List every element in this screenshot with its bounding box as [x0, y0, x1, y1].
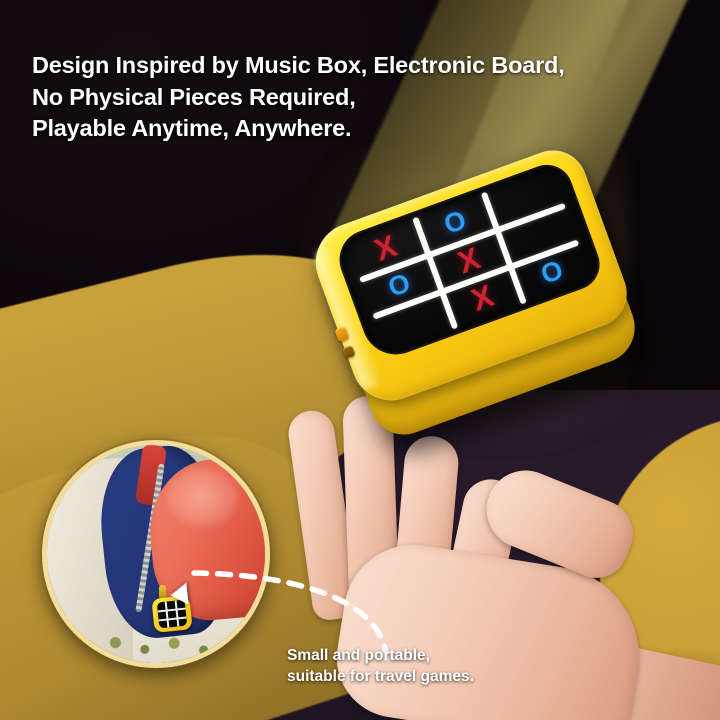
arrow-head-icon [169, 583, 188, 607]
x-mark-icon: X [468, 280, 498, 316]
x-mark-icon: X [454, 242, 484, 278]
product-marketing-image: Design Inspired by Music Box, Electronic… [0, 0, 720, 720]
o-mark-icon: O [441, 206, 470, 239]
headline: Design Inspired by Music Box, Electronic… [32, 50, 692, 145]
o-mark-icon: O [538, 256, 567, 289]
headline-line-2: No Physical Pieces Required, [32, 82, 692, 114]
headline-line-1: Design Inspired by Music Box, Electronic… [32, 50, 692, 82]
caption: Small and portable, suitable for travel … [287, 645, 587, 687]
inset-highlight [167, 469, 237, 527]
caption-line-2: suitable for travel games. [287, 666, 587, 687]
o-mark-icon: O [385, 269, 414, 302]
x-mark-icon: X [371, 230, 401, 266]
caption-line-1: Small and portable, [287, 645, 587, 666]
headline-line-3: Playable Anytime, Anywhere. [32, 113, 692, 145]
mini-grid-line-v1 [165, 601, 170, 627]
